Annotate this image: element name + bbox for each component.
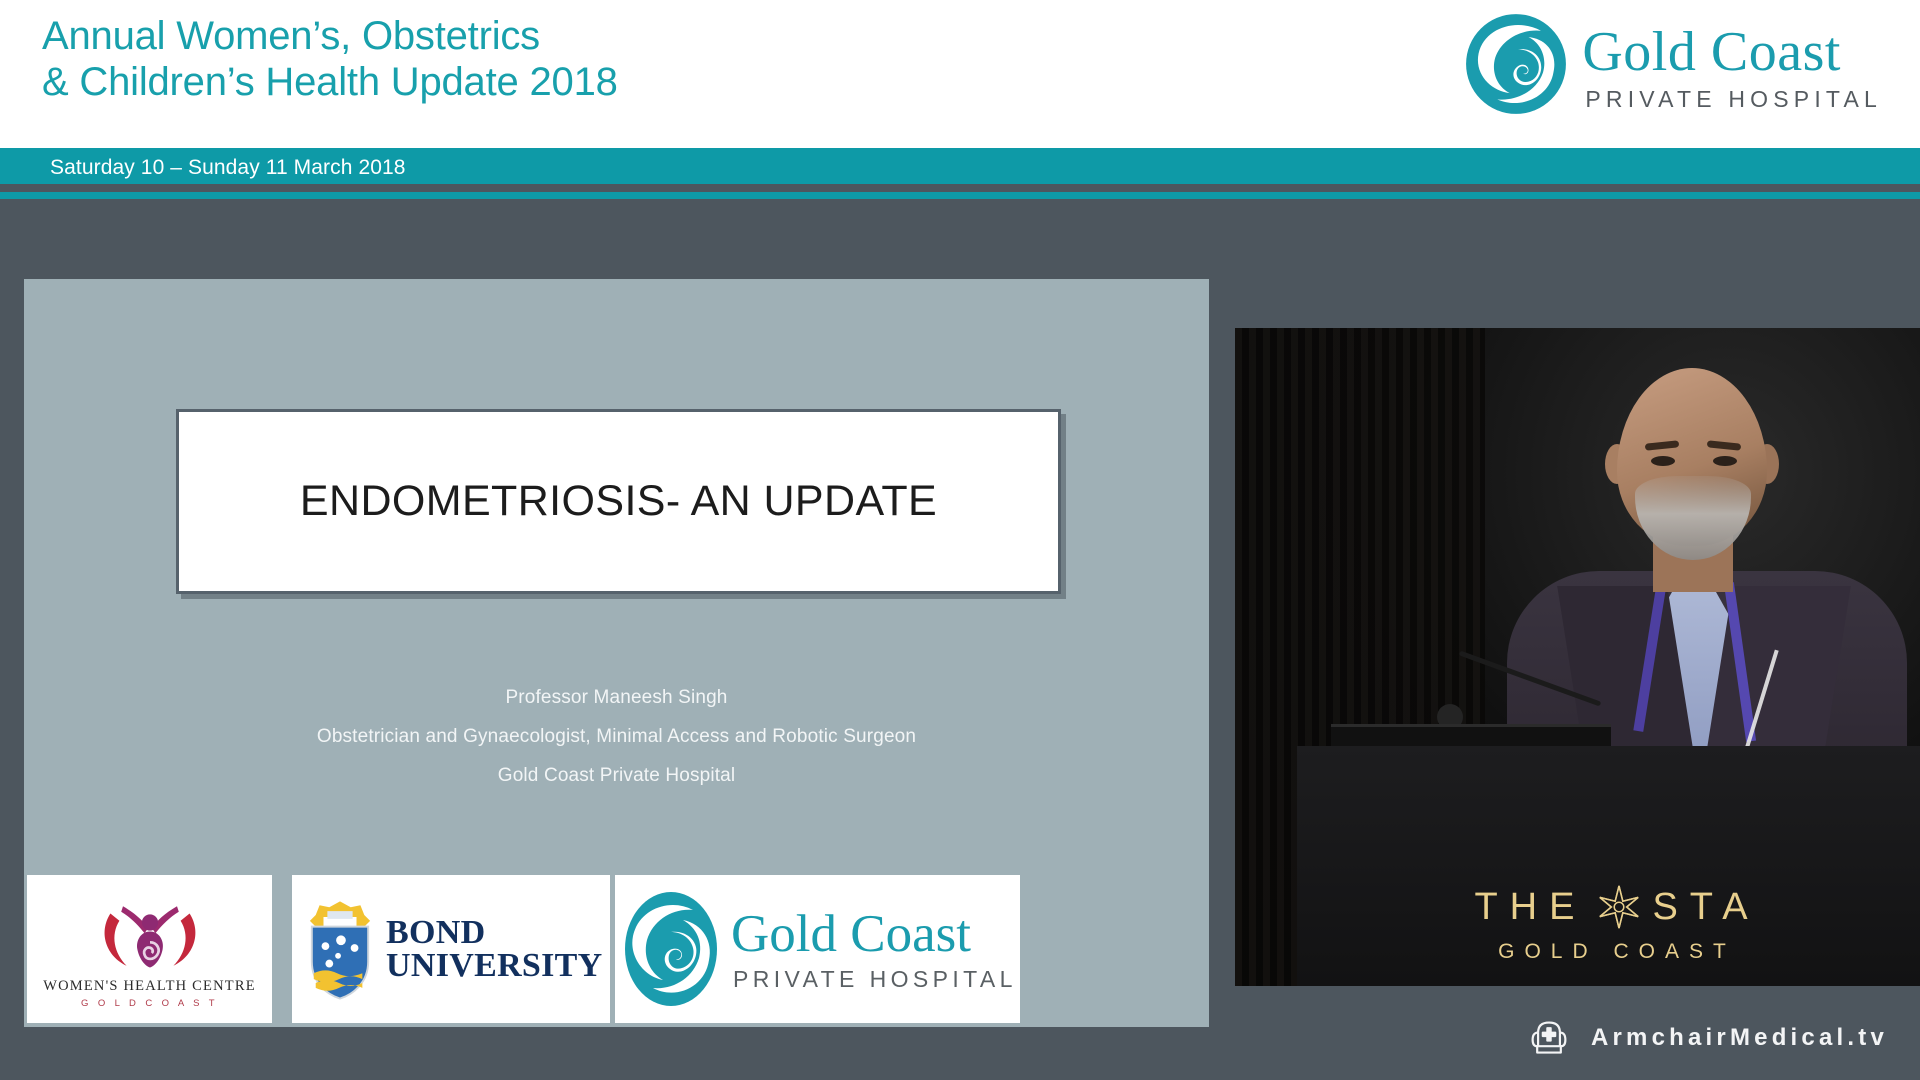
page-header: Annual Women’s, Obstetrics & Children’s … — [0, 0, 1920, 152]
presentation-stage: ENDOMETRIOSIS- AN UPDATE Professor Manee… — [0, 206, 1920, 1080]
speaker-eye-right — [1713, 456, 1737, 466]
sponsor-subtitle-gcph: PRIVATE HOSPITAL — [733, 968, 1017, 991]
sponsor-logo-womens-health-centre: WOMEN'S HEALTH CENTRE G O L D C O A S T — [27, 875, 272, 1023]
podium-sign-the: THE — [1474, 886, 1586, 929]
divider-stripe-teal — [0, 192, 1920, 199]
sponsor-name-whc: WOMEN'S HEALTH CENTRE — [27, 978, 272, 995]
swirl-wave-icon — [1464, 12, 1568, 116]
logo-wordmark: Gold Coast PRIVATE HOSPITAL — [1582, 18, 1882, 111]
podium: THE STA GOLD COAST — [1297, 746, 1920, 986]
presenter-affiliation: Gold Coast Private Hospital — [24, 757, 1209, 796]
sponsor-logo-bond-university: BOND UNIVERSITY — [292, 875, 610, 1023]
sponsor-name-bond: BOND UNIVERSITY — [386, 916, 603, 983]
presenter-details: Professor Maneesh Singh Obstetrician and… — [24, 679, 1209, 796]
date-bar: Saturday 10 – Sunday 11 March 2018 — [0, 148, 1920, 184]
goddess-figure-icon — [96, 896, 204, 976]
slide-panel[interactable]: ENDOMETRIOSIS- AN UPDATE Professor Manee… — [24, 279, 1209, 1027]
presenter-role: Obstetrician and Gynaecologist, Minimal … — [24, 718, 1209, 757]
date-range-label: Saturday 10 – Sunday 11 March 2018 — [50, 156, 406, 180]
logo-subtitle: PRIVATE HOSPITAL — [1585, 88, 1882, 111]
gold-coast-private-hospital-logo: Gold Coast PRIVATE HOSPITAL — [1464, 12, 1882, 116]
sponsor-logo-gold-coast-private-hospital: Gold Coast PRIVATE HOSPITAL — [615, 875, 1020, 1023]
divider-stripe-dark-2 — [0, 199, 1920, 206]
sponsor-name-gcph: Gold Coast — [731, 908, 1017, 961]
podium-signage: THE STA GOLD COAST — [1297, 884, 1920, 964]
watermark: ArmchairMedical.tv — [1529, 1018, 1888, 1058]
star-glyph-icon — [1596, 884, 1642, 930]
logo-name: Gold Coast — [1582, 24, 1882, 80]
slide-title-box: ENDOMETRIOSIS- AN UPDATE — [176, 409, 1061, 594]
page-title: Annual Women’s, Obstetrics & Children’s … — [42, 14, 618, 105]
speaker-video-panel[interactable]: THE STA GOLD COAST — [1235, 328, 1920, 986]
speaker-eye-left — [1651, 456, 1675, 466]
divider-stripe-dark-1 — [0, 184, 1920, 192]
podium-sign-star-word: STA — [1652, 886, 1759, 929]
watermark-label: ArmchairMedical.tv — [1591, 1024, 1888, 1052]
presenter-name: Professor Maneesh Singh — [24, 679, 1209, 718]
podium-sign-location: GOLD COAST — [1297, 940, 1920, 964]
sponsor-wordmark-gcph: Gold Coast PRIVATE HOSPITAL — [731, 908, 1017, 991]
sponsor-subtitle-whc: G O L D C O A S T — [27, 998, 272, 1009]
swirl-wave-icon — [621, 890, 721, 1008]
sponsor-logo-strip: WOMEN'S HEALTH CENTRE G O L D C O A S T — [24, 875, 1209, 1023]
shield-crest-icon — [306, 897, 374, 1001]
slide-title: ENDOMETRIOSIS- AN UPDATE — [300, 477, 937, 526]
armchair-medical-cross-icon — [1529, 1018, 1569, 1058]
